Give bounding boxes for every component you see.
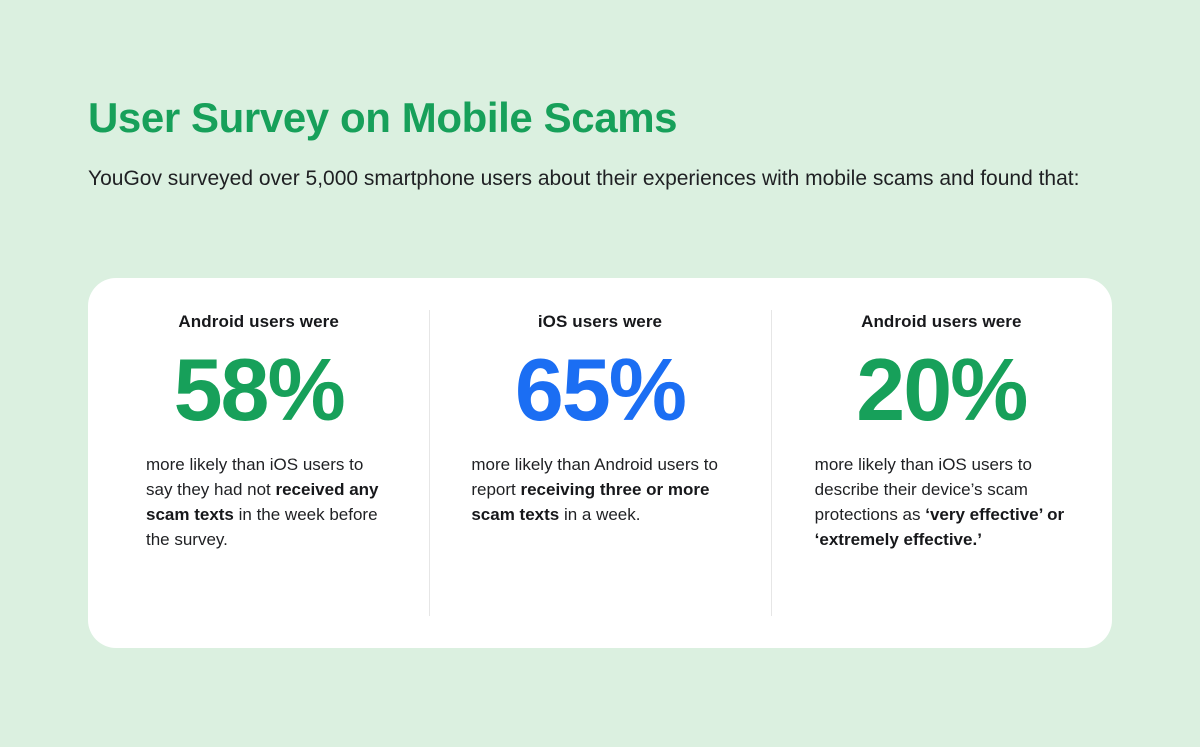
stat-description: more likely than iOS users to say they h… bbox=[122, 452, 395, 552]
stat-column-2: iOS users were 65% more likely than Andr… bbox=[429, 278, 770, 648]
stat-value: 58% bbox=[122, 342, 395, 438]
stat-eyebrow: Android users were bbox=[122, 310, 395, 334]
stats-card: Android users were 58% more likely than … bbox=[88, 278, 1112, 648]
infographic-page: User Survey on Mobile Scams YouGov surve… bbox=[0, 0, 1200, 747]
page-subtitle: YouGov surveyed over 5,000 smartphone us… bbox=[88, 164, 1123, 194]
stat-description: more likely than iOS users to describe t… bbox=[805, 452, 1078, 552]
stat-value: 65% bbox=[463, 342, 736, 438]
page-title: User Survey on Mobile Scams bbox=[88, 92, 1128, 144]
stat-description: more likely than Android users to report… bbox=[463, 452, 736, 527]
stat-eyebrow: iOS users were bbox=[463, 310, 736, 334]
stat-value: 20% bbox=[805, 342, 1078, 438]
stat-eyebrow: Android users were bbox=[805, 310, 1078, 334]
header: User Survey on Mobile Scams YouGov surve… bbox=[88, 92, 1128, 194]
stat-column-1: Android users were 58% more likely than … bbox=[88, 278, 429, 648]
stat-column-3: Android users were 20% more likely than … bbox=[771, 278, 1112, 648]
